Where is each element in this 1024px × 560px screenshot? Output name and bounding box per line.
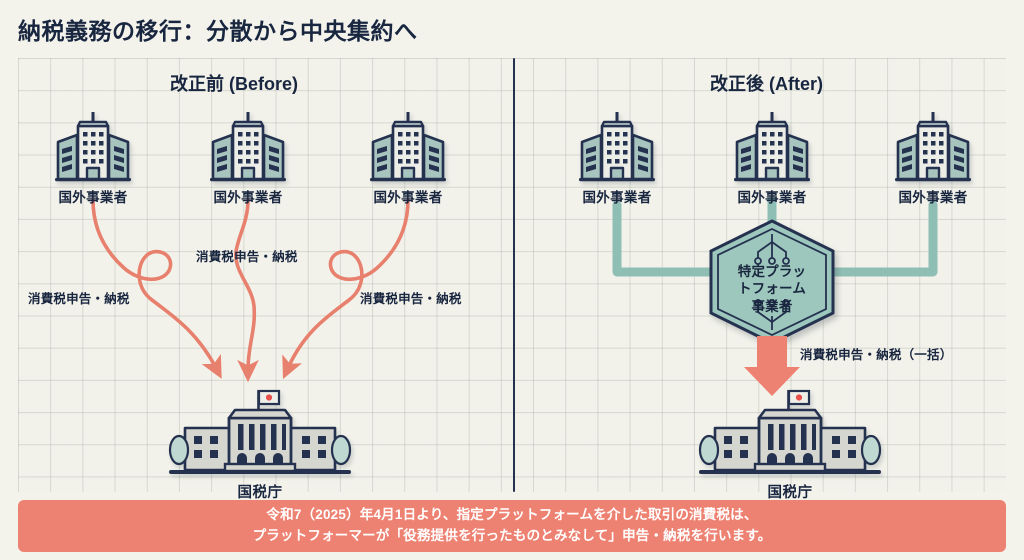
office-building-icon (50, 110, 136, 184)
before-business-3: 国外事業者 (353, 110, 463, 206)
office-building-icon (205, 110, 291, 184)
platform-label: 特定プラッ トフォーム 事業者 (702, 218, 842, 346)
banner-line-2: プラットフォーマーが「役務提供を行ったものとみなして」申告・納税を行います。 (253, 526, 772, 547)
business-label: 国外事業者 (562, 186, 672, 206)
government-building-icon (695, 388, 885, 480)
before-arrow-label-1: 消費税申告・納税 (28, 288, 130, 307)
panel-heading-before: 改正前 (Before) (170, 70, 298, 96)
business-label: 国外事業者 (353, 186, 463, 206)
platform-hexagon: 特定プラッ トフォーム 事業者 (702, 218, 842, 346)
after-business-1: 国外事業者 (562, 110, 672, 206)
before-business-1: 国外事業者 (38, 110, 148, 206)
before-arrow-label-2: 消費税申告・納税 (196, 246, 298, 265)
office-building-icon (890, 110, 976, 184)
after-business-2: 国外事業者 (717, 110, 827, 206)
after-business-3: 国外事業者 (878, 110, 988, 206)
before-tax-authority: 国税庁 (160, 388, 360, 502)
page-title: 納税義務の移行：分散から中央集約へ (18, 12, 418, 46)
office-building-icon (729, 110, 815, 184)
after-arrow-label: 消費税申告・納税（一括） (800, 344, 952, 363)
before-business-2: 国外事業者 (193, 110, 303, 206)
business-label: 国外事業者 (717, 186, 827, 206)
business-label: 国外事業者 (193, 186, 303, 206)
diagram-page: 納税義務の移行：分散から中央集約へ 改正前 (Before) 改正後 (Afte… (0, 0, 1024, 560)
government-building-icon (165, 388, 355, 480)
platform-label-line2: トフォーム (738, 280, 806, 298)
panel-heading-after: 改正後 (After) (710, 70, 823, 96)
business-label: 国外事業者 (878, 186, 988, 206)
platform-label-line1: 特定プラッ (738, 263, 807, 281)
business-label: 国外事業者 (38, 186, 148, 206)
before-arrow-label-3: 消費税申告・納税 (360, 288, 462, 307)
authority-label: 国税庁 (690, 481, 890, 502)
after-tax-authority: 国税庁 (690, 388, 890, 502)
panel-divider (513, 58, 515, 492)
office-building-icon (574, 110, 660, 184)
summary-banner: 令和7（2025）年4月1日より、指定プラットフォームを介した取引の消費税は、 … (18, 500, 1006, 552)
banner-line-1: 令和7（2025）年4月1日より、指定プラットフォームを介した取引の消費税は、 (266, 505, 757, 526)
platform-label-line3: 事業者 (751, 298, 792, 316)
authority-label: 国税庁 (160, 481, 360, 502)
office-building-icon (365, 110, 451, 184)
